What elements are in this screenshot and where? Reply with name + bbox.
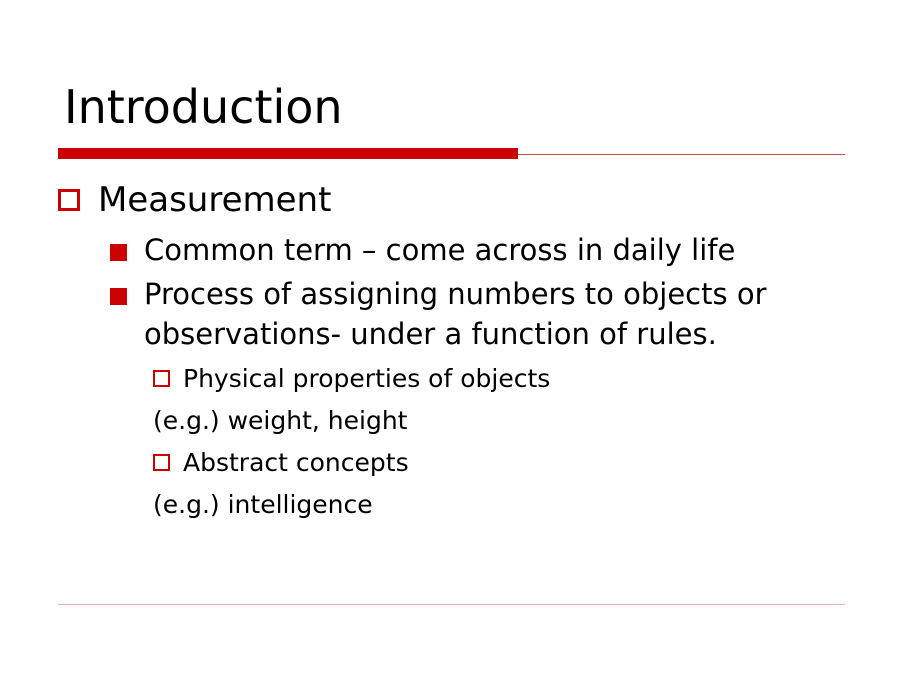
hollow-square-bullet-icon <box>58 189 80 211</box>
list-item-label: (e.g.) weight, height <box>153 400 407 442</box>
title-underline-accent <box>58 148 518 159</box>
hollow-square-bullet-icon <box>153 370 170 387</box>
list-item-level2: Process of assigning numbers to objects … <box>110 274 858 354</box>
hollow-square-bullet-icon <box>153 454 170 471</box>
footer-divider <box>58 604 845 605</box>
list-item-label: Measurement <box>98 178 331 222</box>
filled-square-bullet-icon <box>110 288 127 305</box>
list-item-label: Common term – come across in daily life <box>144 230 735 270</box>
slide-canvas: Introduction Measurement Common term – c… <box>0 0 900 675</box>
list-item-level3: Physical properties of objects <box>153 358 858 400</box>
list-item-label: Physical properties of objects <box>183 358 550 400</box>
list-item-label: Abstract concepts <box>183 442 409 484</box>
filled-square-bullet-icon <box>110 244 127 261</box>
slide-body: Measurement Common term – come across in… <box>58 178 858 526</box>
list-item-label: (e.g.) intelligence <box>153 484 373 526</box>
list-item-level2: Common term – come across in daily life <box>110 230 858 270</box>
list-item-level3-continuation: (e.g.) weight, height <box>153 400 858 442</box>
list-item-level1: Measurement <box>58 178 858 222</box>
list-item-label: Process of assigning numbers to objects … <box>144 274 834 354</box>
list-item-level3-continuation: (e.g.) intelligence <box>153 484 858 526</box>
page-title: Introduction <box>64 84 343 130</box>
list-item-level3: Abstract concepts <box>153 442 858 484</box>
